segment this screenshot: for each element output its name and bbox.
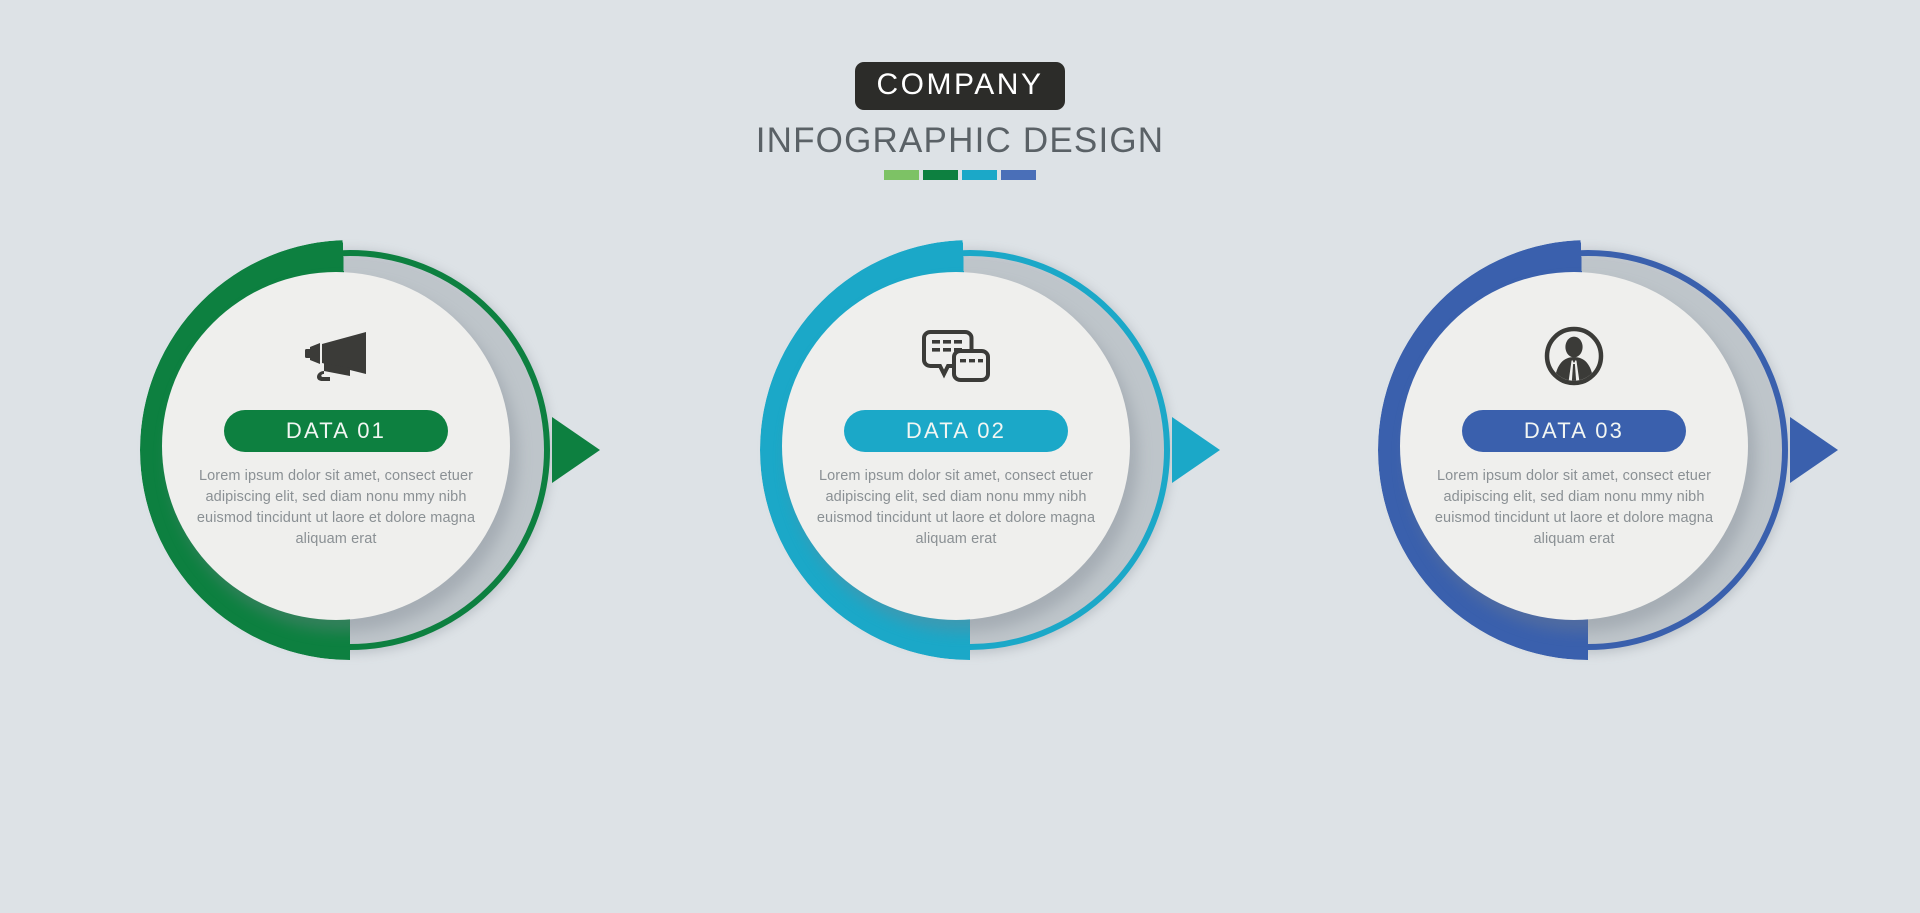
header: COMPANY INFOGRAPHIC DESIGN <box>0 62 1920 180</box>
color-swatch-blue <box>1001 170 1036 180</box>
step-body-text: Lorem ipsum dolor sit amet, consect etue… <box>1429 466 1719 550</box>
infographic-step-data-02[interactable]: DATA 02 Lorem ipsum dolor sit amet, cons… <box>760 240 1180 660</box>
megaphone-icon <box>300 324 372 388</box>
color-bar <box>0 170 1920 180</box>
infographic-step-data-01[interactable]: DATA 01 Lorem ipsum dolor sit amet, cons… <box>140 240 560 660</box>
step-body-text: Lorem ipsum dolor sit amet, consect etue… <box>191 466 481 550</box>
step-label-pill-data-02[interactable]: DATA 02 <box>844 410 1068 452</box>
infographic-steps: DATA 01 Lorem ipsum dolor sit amet, cons… <box>0 240 1920 660</box>
color-swatch-dark-green <box>923 170 958 180</box>
step-label-pill-data-03[interactable]: DATA 03 <box>1462 410 1686 452</box>
card-content: DATA 03 Lorem ipsum dolor sit amet, cons… <box>1400 272 1748 620</box>
page-title: INFOGRAPHIC DESIGN <box>0 123 1920 158</box>
card-content: DATA 01 Lorem ipsum dolor sit amet, cons… <box>162 272 510 620</box>
color-swatch-light-green <box>884 170 919 180</box>
card-content: DATA 02 Lorem ipsum dolor sit amet, cons… <box>782 272 1130 620</box>
chat-bubbles-icon <box>919 324 993 388</box>
step-label-pill-data-01[interactable]: DATA 01 <box>224 410 448 452</box>
color-swatch-cyan <box>962 170 997 180</box>
company-badge: COMPANY <box>855 62 1066 110</box>
infographic-step-data-03[interactable]: DATA 03 Lorem ipsum dolor sit amet, cons… <box>1378 240 1798 660</box>
step-body-text: Lorem ipsum dolor sit amet, consect etue… <box>811 466 1101 550</box>
businessman-icon <box>1544 324 1604 388</box>
